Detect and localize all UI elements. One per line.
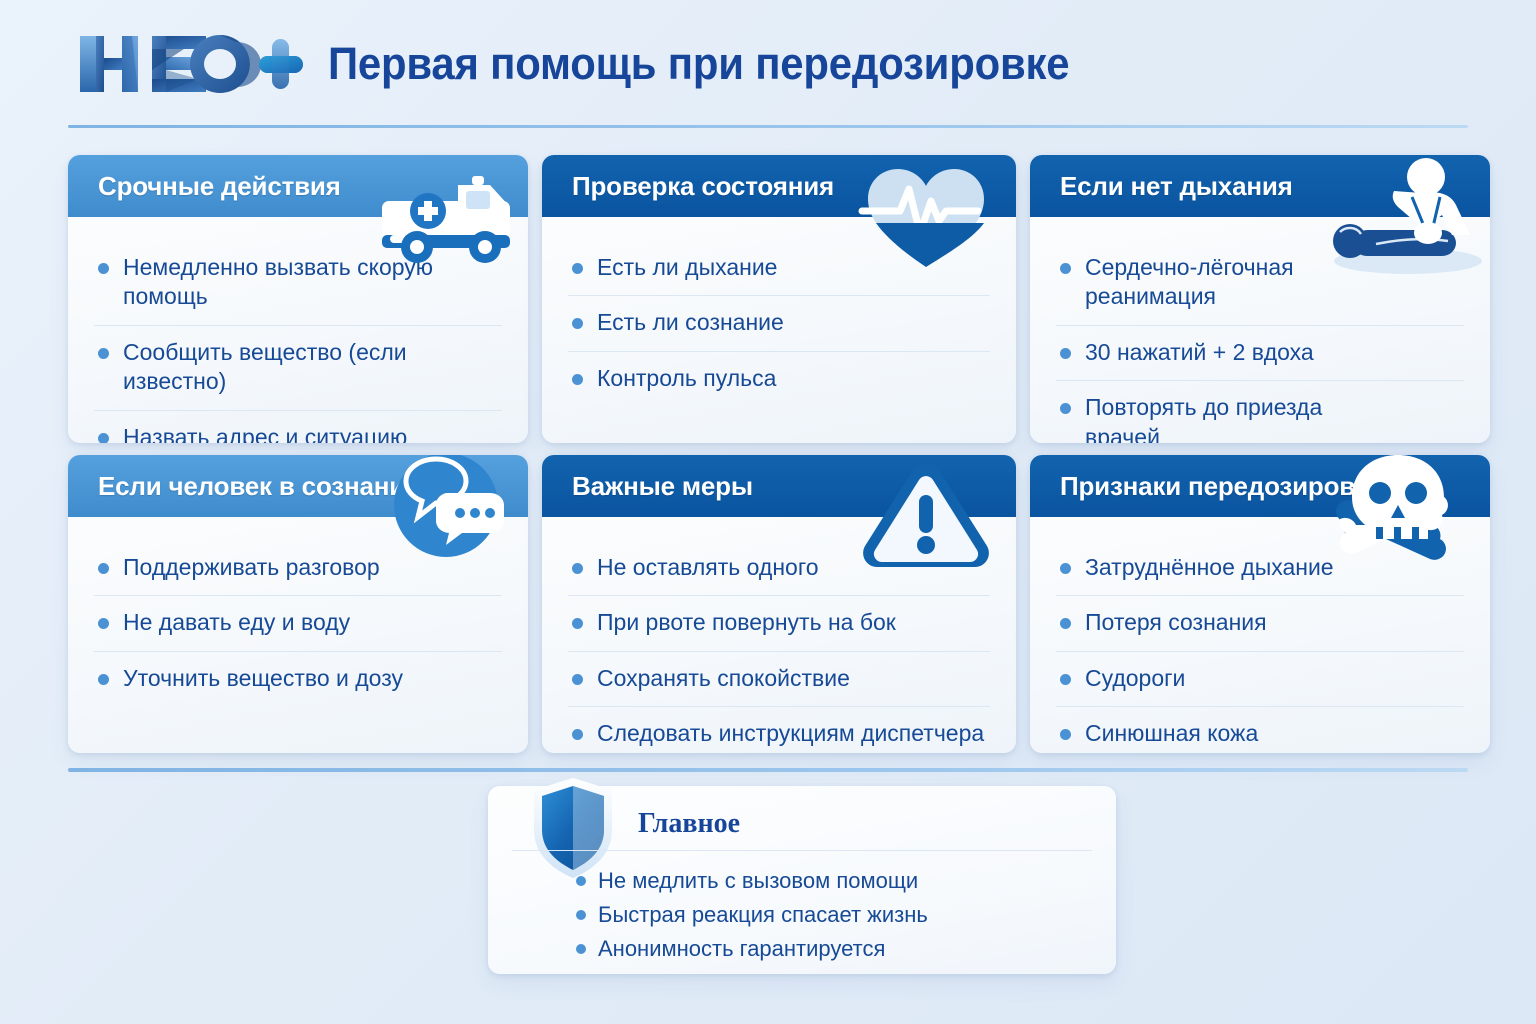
card-header: Проверка состояния: [542, 155, 1016, 217]
list-item-label: Есть ли сознание: [597, 308, 784, 337]
bullet-dot: [98, 674, 109, 685]
list-item-label: Судороги: [1085, 664, 1185, 693]
card-header: Признаки передозировки: [1030, 455, 1490, 517]
list-item-label: Контроль пульса: [597, 364, 776, 393]
list-item: Потеря сознания: [1056, 596, 1464, 651]
bullet-dot: [98, 618, 109, 629]
bullet-dot: [576, 944, 586, 954]
list-item: Судороги: [1056, 652, 1464, 707]
list-item-label: 30 нажатий + 2 вдоха: [1085, 338, 1314, 367]
list-item-label: При рвоте повернуть на бок: [597, 608, 896, 637]
header-divider: [68, 125, 1468, 128]
list-item: Назвать адрес и ситуацию: [94, 411, 502, 443]
bullet-dot: [1060, 263, 1071, 274]
list-item: Сердечно-лёгочная реанимация: [1056, 241, 1464, 326]
card-condition-check[interactable]: Проверка состояния Есть ли дыхание Есть …: [542, 155, 1016, 443]
list-item-label: Назвать адрес и ситуацию: [123, 423, 407, 443]
list-item-label: Быстрая реакция спасает жизнь: [598, 902, 928, 928]
list-item: Есть ли дыхание: [568, 241, 990, 296]
bullet-dot: [572, 263, 583, 274]
card-title: Срочные действия: [98, 171, 341, 202]
list-item-label: Сердечно-лёгочная реанимация: [1085, 253, 1335, 312]
list-item: Синюшная кожа: [1056, 707, 1464, 753]
list-item-label: Следовать инструкциям диспетчера: [597, 719, 984, 748]
bullet-dot: [576, 910, 586, 920]
card-header: Если человек в сознании: [68, 455, 528, 517]
list-item: Поддерживать разговор: [94, 541, 502, 596]
bullet-dot: [98, 348, 109, 359]
list-item-label: Не давать еду и воду: [123, 608, 350, 637]
card-body: Немедленно вызвать скорую помощь Сообщит…: [68, 217, 528, 443]
bullet-dot: [1060, 674, 1071, 685]
bullet-dot: [98, 433, 109, 443]
card-header: Важные меры: [542, 455, 1016, 517]
bullet-dot: [1060, 403, 1071, 414]
page-header: Первая помощь при передозировке: [0, 0, 1536, 128]
bullet-dot: [572, 318, 583, 329]
card-body: Сердечно-лёгочная реанимация 30 нажатий …: [1030, 217, 1490, 443]
bullet-dot: [1060, 348, 1071, 359]
list-item: Контроль пульса: [568, 352, 990, 406]
list-item: При рвоте повернуть на бок: [568, 596, 990, 651]
list-item: Быстрая реакция спасает жизнь: [576, 898, 928, 932]
list-item: Есть ли сознание: [568, 296, 990, 351]
card-no-breathing[interactable]: Если нет дыхания Сердечно-лёгочная реани…: [1030, 155, 1490, 443]
list-item: Повторять до приезда врачей: [1056, 381, 1464, 443]
list-item: Анонимность гарантируется: [576, 932, 928, 966]
card-title: Важные меры: [572, 471, 753, 502]
list-item: 30 нажатий + 2 вдоха: [1056, 326, 1464, 381]
card-title: Если человек в сознании: [98, 471, 421, 502]
card-body: Не оставлять одного При рвоте повернуть …: [542, 517, 1016, 753]
list-item: Затруднённое дыхание: [1056, 541, 1464, 596]
bullet-dot: [1060, 729, 1071, 740]
list-item-label: Уточнить вещество и дозу: [123, 664, 403, 693]
card-body: Есть ли дыхание Есть ли сознание Контрол…: [542, 217, 1016, 416]
bullet-dot: [98, 263, 109, 274]
bullet-dot: [572, 374, 583, 385]
card-title: Если нет дыхания: [1060, 171, 1293, 202]
list-item: Уточнить вещество и дозу: [94, 652, 502, 706]
page-title: Первая помощь при передозировке: [328, 38, 1069, 90]
card-body: Затруднённое дыхание Потеря сознания Суд…: [1030, 517, 1490, 753]
bullet-dot: [572, 729, 583, 740]
card-overdose-signs[interactable]: Признаки передозировки За: [1030, 455, 1490, 753]
bullet-dot: [576, 876, 586, 886]
list-item-label: Немедленно вызвать скорую помощь: [123, 253, 453, 312]
card-urgent-actions[interactable]: Срочные действия Немедленно вызвать скор…: [68, 155, 528, 443]
bullet-dot: [1060, 618, 1071, 629]
card-header: Если нет дыхания: [1030, 155, 1490, 217]
card-title: Проверка состояния: [572, 171, 834, 202]
list-item-label: Не медлить с вызовом помощи: [598, 868, 918, 894]
bullet-dot: [572, 674, 583, 685]
list-item-label: Повторять до приезда врачей: [1085, 393, 1335, 443]
list-item-label: Затруднённое дыхание: [1085, 553, 1334, 582]
list-item-label: Есть ли дыхание: [597, 253, 777, 282]
card-body: Поддерживать разговор Не давать еду и во…: [68, 517, 528, 716]
list-item-label: Не оставлять одного: [597, 553, 819, 582]
footer-list: Не медлить с вызовом помощи Быстрая реак…: [576, 864, 928, 966]
list-item-label: Сохранять спокойствие: [597, 664, 850, 693]
list-item: Не медлить с вызовом помощи: [576, 864, 928, 898]
key-points-panel[interactable]: Главное Не медлить с вызовом помощи Быст…: [488, 786, 1116, 974]
list-item: Немедленно вызвать скорую помощь: [94, 241, 502, 326]
bullet-dot: [572, 618, 583, 629]
card-title: Признаки передозировки: [1060, 471, 1384, 502]
list-item: Не давать еду и воду: [94, 596, 502, 651]
bullet-dot: [572, 563, 583, 574]
list-item-label: Потеря сознания: [1085, 608, 1267, 637]
footer-divider: [68, 768, 1468, 772]
list-item: Не оставлять одного: [568, 541, 990, 596]
footer-title-divider: [512, 850, 1092, 851]
card-header: Срочные действия: [68, 155, 528, 217]
card-conscious-person[interactable]: Если человек в сознании Поддерживать раз…: [68, 455, 528, 753]
card-important-measures[interactable]: Важные меры Не оставлять одного При рвот…: [542, 455, 1016, 753]
list-item-label: Сообщить вещество (если известно): [123, 338, 453, 397]
card-grid: Срочные действия Немедленно вызвать скор…: [68, 155, 1468, 753]
list-item: Сообщить вещество (если известно): [94, 326, 502, 411]
bullet-dot: [1060, 563, 1071, 574]
footer-title: Главное: [638, 808, 740, 840]
list-item: Сохранять спокойствие: [568, 652, 990, 707]
list-item-label: Анонимность гарантируется: [598, 936, 885, 962]
list-item-label: Синюшная кожа: [1085, 719, 1258, 748]
brand-logo: [74, 26, 306, 102]
list-item-label: Поддерживать разговор: [123, 553, 380, 582]
bullet-dot: [98, 563, 109, 574]
list-item: Следовать инструкциям диспетчера: [568, 707, 990, 753]
